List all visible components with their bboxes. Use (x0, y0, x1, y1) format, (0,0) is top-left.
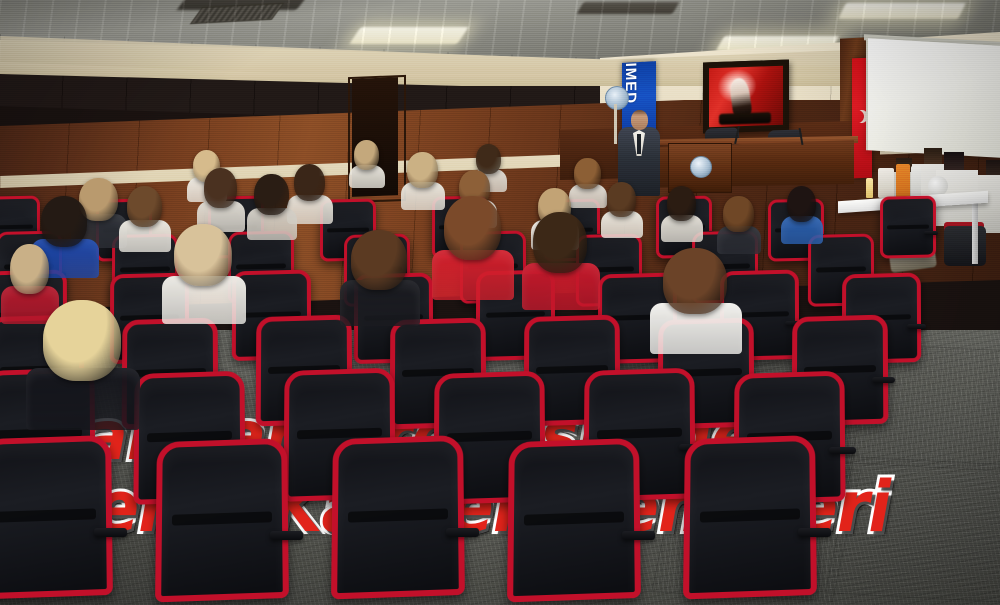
seat-armrest (622, 531, 655, 540)
attendee-row5-d (600, 182, 644, 238)
auditorium-seat[interactable] (155, 438, 289, 602)
seat-armrest (924, 231, 938, 235)
seat-armrest (446, 528, 479, 537)
attendee-row5-f (716, 196, 762, 254)
attendee-head (663, 248, 726, 314)
seat-armrest (872, 377, 895, 383)
seat-armrest (907, 324, 926, 329)
attendee-mid-left (338, 230, 422, 326)
auditorium-seat[interactable] (0, 435, 113, 599)
attendee-head (407, 152, 437, 188)
attendee-head (787, 186, 816, 222)
attendee-head (127, 186, 163, 227)
attendee-patterned-top (648, 248, 744, 354)
attendee-head (204, 168, 237, 208)
attendee-head (444, 196, 501, 260)
attendee-head (41, 196, 87, 247)
auditorium-seat[interactable] (683, 435, 817, 599)
news-photo: OPTIMED (0, 0, 1000, 605)
auditorium-seat[interactable] (331, 435, 465, 599)
auditorium-seat[interactable] (507, 438, 641, 602)
attendee-head (574, 158, 600, 189)
attendee-red-stripe (520, 212, 602, 310)
attendee-head (254, 174, 288, 215)
attendee-head (10, 244, 50, 294)
attendee-head (294, 164, 326, 201)
attendee-red-shirt (430, 196, 516, 300)
seat-armrest (270, 531, 303, 540)
attendee-head (354, 140, 379, 170)
attendee-headscarf (780, 186, 824, 244)
attendee-row5-e (660, 186, 704, 242)
attendee-head (351, 230, 406, 290)
attendee-row6-b (348, 140, 386, 188)
attendee-front-left (24, 300, 142, 430)
attendee-row3-c (196, 168, 246, 232)
seat-armrest (798, 528, 831, 537)
attendee-row3-d (246, 174, 298, 240)
attendee-head (174, 224, 232, 286)
attendee-head (723, 196, 753, 232)
seat-armrest (829, 447, 856, 454)
attendee-head (43, 300, 121, 381)
auditorium-seat[interactable] (880, 196, 936, 259)
attendee-head (667, 186, 696, 221)
seat-armrest (94, 528, 127, 537)
attendee-head (607, 182, 636, 217)
attendee-head (533, 212, 587, 273)
attendee-row2-left (160, 224, 248, 324)
